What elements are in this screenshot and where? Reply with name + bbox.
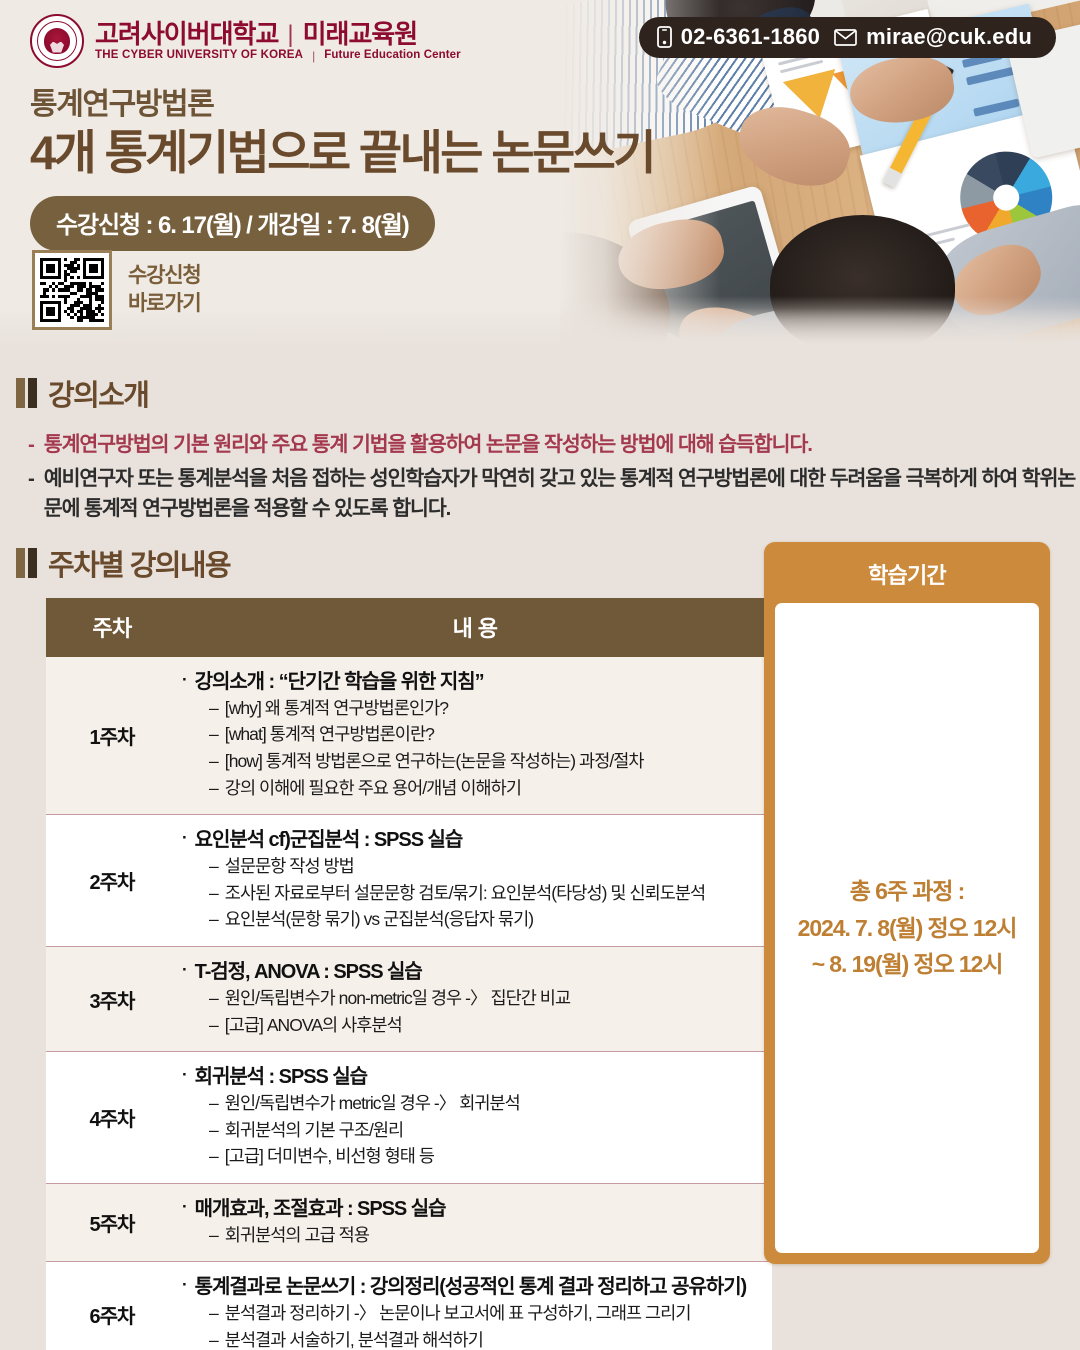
contact-bar: 02-6361-1860 mirae@cuk.edu <box>639 17 1056 58</box>
week-sub-text: 분석결과 서술하기, 분석결과 해석하기 <box>225 1327 483 1350</box>
week-sub-text: [how] 통계적 방법론으로 연구하는(논문을 작성하는) 과정/절차 <box>225 748 644 775</box>
week-sub-text: [what] 통계적 연구방법론이란? <box>225 721 434 748</box>
week-title-row: ·통계결과로 논문쓰기 : 강의정리(성공적인 통계 결과 정리하고 공유하기) <box>182 1274 764 1300</box>
week-sub-item: –설문문항 작성 방법 <box>209 853 764 880</box>
week-sub-text: 분석결과 정리하기 -〉 논문이나 보고서에 표 구성하기, 그래프 그리기 <box>225 1300 691 1327</box>
week-sub-text: 회귀분석의 고급 적용 <box>225 1222 369 1249</box>
week-title-row: ·T-검정, ANOVA : SPSS 실습 <box>182 959 764 985</box>
week-sub-item: –요인분석(문항 묶기) vs 군집분석(응답자 묶기) <box>209 906 764 933</box>
week-sub-item: –[고급] ANOVA의 사후분석 <box>209 1012 764 1039</box>
bullet-dot-icon: · <box>182 827 187 850</box>
bullet-dash-icon: – <box>209 1327 218 1350</box>
bullet-dash-icon: – <box>209 853 218 880</box>
week-content: ·요인분석 cf)군집분석 : SPSS 실습–설문문항 작성 방법–조사된 자… <box>178 815 772 947</box>
intro-item-text: 예비연구자 또는 통계분석을 처음 접하는 성인학습자가 막연히 갖고 있는 통… <box>44 464 1080 524</box>
week-title-row: ·요인분석 cf)군집분석 : SPSS 실습 <box>182 827 764 853</box>
week-sub-text: 원인/독립변수가 metric일 경우 -〉 회귀분석 <box>225 1090 520 1117</box>
bullet-dash-icon: – <box>209 1117 218 1144</box>
email-contact[interactable]: mirae@cuk.edu <box>834 24 1032 50</box>
week-sub-item: –[why] 왜 통계적 연구방법론인가? <box>209 695 764 722</box>
qr-code-icon[interactable] <box>32 250 112 330</box>
bullet-dot-icon: · <box>182 1064 187 1087</box>
week-label: 4주차 <box>46 1052 178 1184</box>
study-period-card: 학습기간 총 6주 과정 : 2024. 7. 8(월) 정오 12시 ~ 8.… <box>764 542 1050 1264</box>
bullet-dash-icon: – <box>209 775 218 802</box>
intro-list: - 통계연구방법의 기본 원리와 주요 통계 기법을 활용하여 논문을 작성하는… <box>28 430 1080 524</box>
week-sub-text: [고급] ANOVA의 사후분석 <box>225 1012 402 1039</box>
column-header-content: 내 용 <box>178 598 772 657</box>
week-sub-text: 설문문항 작성 방법 <box>225 853 354 880</box>
week-sub-item: –원인/독립변수가 non-metric일 경우 -〉 집단간 비교 <box>209 985 764 1012</box>
photo-chart-shape <box>966 66 1018 85</box>
week-title-text: 요인분석 cf)군집분석 : SPSS 실습 <box>195 827 463 853</box>
table-row: 3주차·T-검정, ANOVA : SPSS 실습–원인/독립변수가 non-m… <box>46 946 772 1051</box>
week-sub-item: –[what] 통계적 연구방법론이란? <box>209 721 764 748</box>
bullet-dash-icon: – <box>209 721 218 748</box>
week-sub-text: [why] 왜 통계적 연구방법론인가? <box>225 695 448 722</box>
photo-pie-center <box>990 182 1022 214</box>
week-sub-text: 요인분석(문항 묶기) vs 군집분석(응답자 묶기) <box>225 906 533 933</box>
bullet-dash-icon: – <box>209 695 218 722</box>
intro-heading: 강의소개 <box>48 372 148 414</box>
table-header-row: 주차 내 용 <box>46 598 772 657</box>
enrollment-date-badge: 수강신청 : 6. 17(월) / 개강일 : 7. 8(월) <box>30 196 435 251</box>
study-period-line2: 2024. 7. 8(월) 정오 12시 <box>798 910 1017 946</box>
qr-label: 수강신청 바로가기 <box>128 262 200 317</box>
week-sub-item: –[how] 통계적 방법론으로 연구하는(논문을 작성하는) 과정/절차 <box>209 748 764 775</box>
week-sub-item: –분석결과 정리하기 -〉 논문이나 보고서에 표 구성하기, 그래프 그리기 <box>209 1300 764 1327</box>
week-sub-text: 회귀분석의 기본 구조/원리 <box>225 1117 403 1144</box>
week-sub-text: 조사된 자료로부터 설문문항 검토/묶기: 요인분석(타당성) 및 신뢰도분석 <box>225 880 705 907</box>
week-sub-text: 원인/독립변수가 non-metric일 경우 -〉 집단간 비교 <box>225 985 570 1012</box>
bullet-dash-icon: - <box>28 464 34 494</box>
table-row: 4주차·회귀분석 : SPSS 실습–원인/독립변수가 metric일 경우 -… <box>46 1052 772 1184</box>
week-sub-text: 강의 이해에 필요한 주요 용어/개념 이해하기 <box>225 775 521 802</box>
week-content: ·T-검정, ANOVA : SPSS 실습–원인/독립변수가 non-metr… <box>178 946 772 1051</box>
bullet-dot-icon: · <box>182 1274 187 1297</box>
study-period-line1: 총 6주 과정 : <box>798 873 1017 909</box>
week-sub-item: –원인/독립변수가 metric일 경우 -〉 회귀분석 <box>209 1090 764 1117</box>
phone-icon <box>657 26 672 48</box>
week-sub-item: –조사된 자료로부터 설문문항 검토/묶기: 요인분석(타당성) 및 신뢰도분석 <box>209 880 764 907</box>
qr-label-line2: 바로가기 <box>128 290 200 318</box>
hero-text-block: 통계연구방법론 4개 통계기법으로 끝내는 논문쓰기 수강신청 : 6. 17(… <box>30 88 654 251</box>
bullet-dash-icon: – <box>209 880 218 907</box>
university-crest-icon <box>30 14 84 68</box>
table-row: 5주차·매개효과, 조절효과 : SPSS 실습–회귀분석의 고급 적용 <box>46 1183 772 1262</box>
study-period-body: 총 6주 과정 : 2024. 7. 8(월) 정오 12시 ~ 8. 19(월… <box>775 603 1039 1253</box>
week-label: 2주차 <box>46 815 178 947</box>
email-address: mirae@cuk.edu <box>866 24 1032 50</box>
brand-logo-text: 고려사이버대학교 | 미래교육원 THE CYBER UNIVERSITY OF… <box>95 21 461 62</box>
bullet-dash-icon: – <box>209 1222 218 1249</box>
bullet-dash-icon: – <box>209 748 218 775</box>
week-content: ·강의소개 : “단기간 학습을 위한 지침”–[why] 왜 통계적 연구방법… <box>178 657 772 815</box>
week-sub-item: –[고급] 더미변수, 비선형 형태 등 <box>209 1143 764 1170</box>
study-period-text: 총 6주 과정 : 2024. 7. 8(월) 정오 12시 ~ 8. 19(월… <box>798 873 1017 982</box>
week-sub-item: –분석결과 서술하기, 분석결과 해석하기 <box>209 1327 764 1350</box>
table-row: 1주차·강의소개 : “단기간 학습을 위한 지침”–[why] 왜 통계적 연… <box>46 657 772 815</box>
phone-contact[interactable]: 02-6361-1860 <box>657 24 820 50</box>
course-headline: 4개 통계기법으로 끝내는 논문쓰기 <box>30 125 654 180</box>
brand-korean-name: 고려사이버대학교 <box>95 21 278 47</box>
bullet-dot-icon: · <box>182 669 187 692</box>
week-title-text: 회귀분석 : SPSS 실습 <box>195 1064 367 1090</box>
section-marker-icon <box>16 548 37 578</box>
qr-code-pattern <box>40 258 104 322</box>
week-title-row: ·매개효과, 조절효과 : SPSS 실습 <box>182 1196 764 1222</box>
week-sub-text: [고급] 더미변수, 비선형 형태 등 <box>225 1143 434 1170</box>
phone-number: 02-6361-1860 <box>681 24 820 50</box>
column-header-week: 주차 <box>46 598 178 657</box>
table-row: 6주차·통계결과로 논문쓰기 : 강의정리(성공적인 통계 결과 정리하고 공유… <box>46 1262 772 1350</box>
week-title-text: T-검정, ANOVA : SPSS 실습 <box>195 959 422 985</box>
week-sub-item: –회귀분석의 고급 적용 <box>209 1222 764 1249</box>
week-content: ·통계결과로 논문쓰기 : 강의정리(성공적인 통계 결과 정리하고 공유하기)… <box>178 1262 772 1350</box>
week-sub-item: –회귀분석의 기본 구조/원리 <box>209 1117 764 1144</box>
section-marker-icon <box>16 378 37 408</box>
photo-chart-shape <box>973 99 1020 117</box>
bullet-dash-icon: – <box>209 1090 218 1117</box>
brand-divider: | <box>287 23 293 47</box>
intro-heading-row: 강의소개 <box>16 372 1080 414</box>
schedule-section: 주차별 강의내용 주차 내 용 1주차·강의소개 : “단기간 학습을 위한 지… <box>0 542 1080 1350</box>
intro-section: 강의소개 - 통계연구방법의 기본 원리와 주요 통계 기법을 활용하여 논문을… <box>0 372 1080 524</box>
bullet-dash-icon: – <box>209 1143 218 1170</box>
qr-label-line1: 수강신청 <box>128 262 200 290</box>
week-title-text: 통계결과로 논문쓰기 : 강의정리(성공적인 통계 결과 정리하고 공유하기) <box>195 1274 747 1300</box>
week-title-text: 강의소개 : “단기간 학습을 위한 지침” <box>195 669 484 695</box>
week-title-row: ·회귀분석 : SPSS 실습 <box>182 1064 764 1090</box>
brand-unit-korean: 미래교육원 <box>303 21 418 47</box>
brand-divider-2: | <box>312 50 315 62</box>
schedule-heading: 주차별 강의내용 <box>48 542 230 584</box>
intro-item: - 통계연구방법의 기본 원리와 주요 통계 기법을 활용하여 논문을 작성하는… <box>28 430 1080 460</box>
bullet-dash-icon: – <box>209 1012 218 1039</box>
bullet-dash-icon: – <box>209 985 218 1012</box>
bullet-dot-icon: · <box>182 959 187 982</box>
intro-item: - 예비연구자 또는 통계분석을 처음 접하는 성인학습자가 막연히 갖고 있는… <box>28 464 1080 524</box>
bullet-dot-icon: · <box>182 1196 187 1219</box>
week-label: 1주차 <box>46 657 178 815</box>
week-sub-item: –강의 이해에 필요한 주요 용어/개념 이해하기 <box>209 775 764 802</box>
bullet-dash-icon: – <box>209 906 218 933</box>
week-label: 3주차 <box>46 946 178 1051</box>
brand-unit-english: Future Education Center <box>324 50 460 62</box>
schedule-table-head: 주차 내 용 <box>46 598 772 657</box>
mail-icon <box>834 29 857 46</box>
qr-apply-block[interactable]: 수강신청 바로가기 <box>32 250 200 330</box>
week-label: 6주차 <box>46 1262 178 1350</box>
table-row: 2주차·요인분석 cf)군집분석 : SPSS 실습–설문문항 작성 방법–조사… <box>46 815 772 947</box>
promo-poster: 고려사이버대학교 | 미래교육원 THE CYBER UNIVERSITY OF… <box>0 0 1080 1350</box>
bullet-dash-icon: – <box>209 1300 218 1327</box>
schedule-table: 주차 내 용 1주차·강의소개 : “단기간 학습을 위한 지침”–[why] … <box>46 598 772 1350</box>
study-period-heading: 학습기간 <box>775 553 1039 603</box>
week-title-text: 매개효과, 조절효과 : SPSS 실습 <box>195 1196 446 1222</box>
brand-logo[interactable]: 고려사이버대학교 | 미래교육원 THE CYBER UNIVERSITY OF… <box>30 14 461 68</box>
week-label: 5주차 <box>46 1183 178 1262</box>
intro-item-text: 통계연구방법의 기본 원리와 주요 통계 기법을 활용하여 논문을 작성하는 방… <box>44 430 812 460</box>
course-subject: 통계연구방법론 <box>30 88 654 121</box>
week-content: ·매개효과, 조절효과 : SPSS 실습–회귀분석의 고급 적용 <box>178 1183 772 1262</box>
week-content: ·회귀분석 : SPSS 실습–원인/독립변수가 metric일 경우 -〉 회… <box>178 1052 772 1184</box>
week-title-row: ·강의소개 : “단기간 학습을 위한 지침” <box>182 669 764 695</box>
hero-banner: 고려사이버대학교 | 미래교육원 THE CYBER UNIVERSITY OF… <box>0 0 1080 348</box>
brand-english-name: THE CYBER UNIVERSITY OF KOREA <box>95 50 303 62</box>
study-period-line3: ~ 8. 19(월) 정오 12시 <box>798 946 1017 982</box>
schedule-table-body: 1주차·강의소개 : “단기간 학습을 위한 지침”–[why] 왜 통계적 연… <box>46 657 772 1350</box>
bullet-dash-icon: - <box>28 430 34 460</box>
